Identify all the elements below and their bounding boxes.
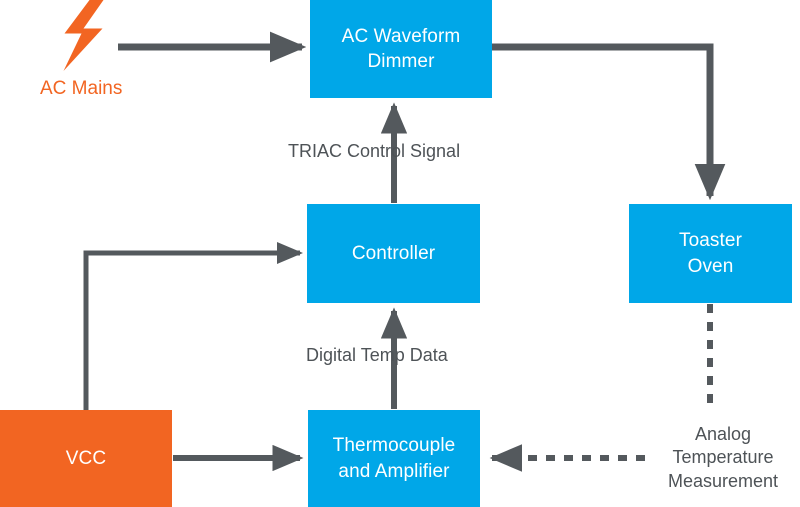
label-line-2: Temperature bbox=[648, 446, 798, 469]
block-label-line-1: AC Waveform bbox=[342, 24, 461, 49]
block-vcc-label: VCC bbox=[66, 446, 106, 471]
block-label-line-1: Controller bbox=[352, 241, 435, 266]
block-label-line-1: Toaster bbox=[679, 228, 742, 253]
block-ac-waveform-dimmer[interactable]: AC Waveform Dimmer bbox=[310, 0, 492, 98]
block-label-line-2: Oven bbox=[679, 254, 742, 279]
label-analog-temperature-measurement: Analog Temperature Measurement bbox=[648, 423, 798, 493]
block-vcc[interactable]: VCC bbox=[0, 410, 172, 507]
block-label-line-2: Dimmer bbox=[342, 49, 461, 74]
ac-mains-label: AC Mains bbox=[40, 78, 122, 101]
block-toaster-oven[interactable]: Toaster Oven bbox=[629, 204, 792, 303]
block-controller[interactable]: Controller bbox=[307, 204, 480, 303]
block-ac-waveform-dimmer-label: AC Waveform Dimmer bbox=[342, 24, 461, 74]
label-triac-control-signal: TRIAC Control Signal bbox=[288, 140, 460, 163]
label-line-1: Analog bbox=[648, 423, 798, 446]
lightning-bolt-icon bbox=[58, 0, 108, 72]
connector-vcc-to-controller bbox=[86, 253, 300, 412]
block-label-line-1: VCC bbox=[66, 446, 106, 471]
block-label-line-2: and Amplifier bbox=[333, 459, 456, 484]
block-label-line-1: Thermocouple bbox=[333, 433, 456, 458]
label-line-3: Measurement bbox=[648, 470, 798, 493]
block-thermocouple-label: Thermocouple and Amplifier bbox=[333, 433, 456, 483]
block-diagram: AC Mains AC Waveform Dimmer Toaster Oven… bbox=[0, 0, 800, 507]
block-controller-label: Controller bbox=[352, 241, 435, 266]
connector-dimmer-to-oven bbox=[492, 47, 710, 196]
label-digital-temp-data: Digital Temp Data bbox=[306, 344, 448, 367]
block-thermocouple-and-amplifier[interactable]: Thermocouple and Amplifier bbox=[308, 410, 480, 507]
block-toaster-oven-label: Toaster Oven bbox=[679, 228, 742, 278]
